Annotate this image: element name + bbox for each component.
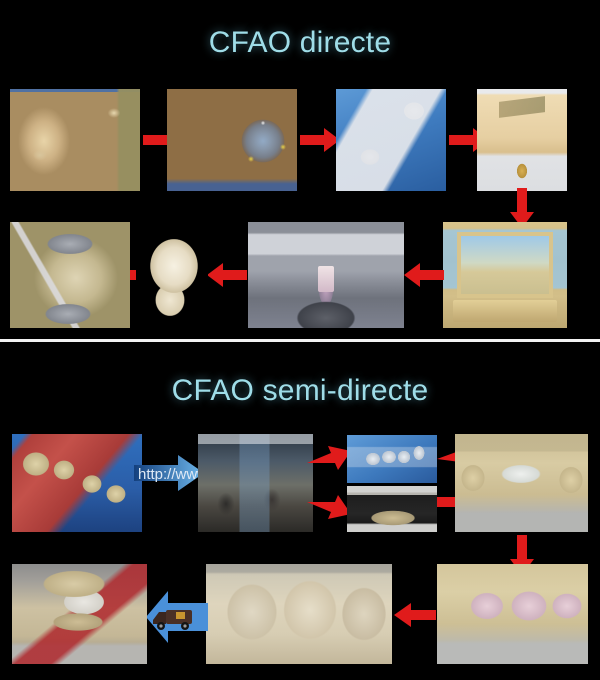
image-milling-burs <box>248 222 404 328</box>
arrow-step5-step6 <box>404 261 444 289</box>
image-intraoral-prepared-teeth <box>10 89 140 191</box>
arrow-step2-step3 <box>300 126 340 154</box>
image-digital-arch-model <box>12 434 142 532</box>
image-finished-bridge-closeup <box>206 564 392 664</box>
image-milling-unit <box>443 222 567 328</box>
slide-root: CFAO directe <box>0 0 600 680</box>
arrow-step6-step7 <box>207 261 247 289</box>
arrow-lab-to-model <box>307 490 351 522</box>
arrow-cad-to-tryin-spacer <box>338 443 382 475</box>
section-title-cfao-semi-directe: CFAO semi-directe <box>0 374 600 408</box>
image-bonded-restoration <box>10 222 130 328</box>
image-cad-design-restoration <box>336 89 446 191</box>
image-framework-try-in <box>455 434 588 532</box>
svg-text:http://www.: http://www. <box>138 466 204 483</box>
image-ceramic-block <box>477 89 567 191</box>
image-ceramic-layering <box>437 564 588 664</box>
image-dental-laboratory <box>198 434 313 532</box>
image-printed-stone-model <box>347 486 437 532</box>
image-milled-restoration <box>140 222 208 328</box>
arrow-shipping[interactable] <box>146 588 208 646</box>
image-intraoral-optical-impression <box>167 89 297 191</box>
image-delivered-restoration <box>12 564 147 664</box>
section-divider <box>0 339 600 342</box>
section-title-cfao-directe: CFAO directe <box>0 26 600 60</box>
arrow-internet-transfer[interactable]: http://www. <box>134 452 204 494</box>
arrow-layering-to-closeup <box>394 601 436 629</box>
